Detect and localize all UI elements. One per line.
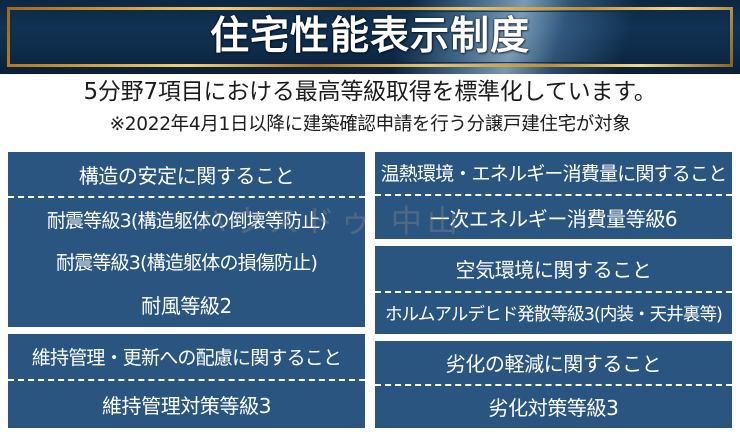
category-block-structure: 構造の安定に関すること 耐震等級3(構造躯体の倒壊等防止) 耐震等級3(構造躯体… bbox=[8, 152, 365, 327]
table-row: 劣化対策等級3 bbox=[375, 384, 732, 429]
category-block-maintenance: 維持管理・更新への配慮に関すること 維持管理対策等級3 bbox=[8, 334, 365, 428]
category-heading: 温熱環境・エネルギー消費量に関すること bbox=[375, 152, 732, 194]
table-row: 耐風等級2 bbox=[8, 283, 365, 327]
category-block-degradation: 劣化の軽減に関すること 劣化対策等級3 bbox=[375, 341, 732, 428]
table-row: 耐震等級3(構造躯体の損傷防止) bbox=[8, 241, 365, 283]
table-row: ホルムアルデヒド発散等級3(内装・天井裏等) bbox=[375, 291, 732, 334]
header-banner: 住宅性能表示制度 bbox=[0, 0, 740, 74]
subtitle-note: ※2022年4月1日以降に建築確認申請を行う分譲戸建住宅が対象 bbox=[0, 110, 740, 140]
table-row: 一次エネルギー消費量等級6 bbox=[375, 194, 732, 240]
subtitle-group: 5分野7項目における最高等級取得を標準化しています。 ※2022年4月1日以降に… bbox=[0, 74, 740, 140]
category-block-air: 空気環境に関すること ホルムアルデヒド発散等級3(内装・天井裏等) bbox=[375, 246, 732, 334]
category-heading: 劣化の軽減に関すること bbox=[375, 341, 732, 384]
category-block-thermal: 温熱環境・エネルギー消費量に関すること 一次エネルギー消費量等級6 bbox=[375, 152, 732, 239]
subtitle-main: 5分野7項目における最高等級取得を標準化しています。 bbox=[0, 74, 740, 110]
table-row: 耐震等級3(構造躯体の倒壊等防止) bbox=[8, 196, 365, 240]
table-row: 維持管理対策等級3 bbox=[8, 379, 365, 428]
table-column-left: 構造の安定に関すること 耐震等級3(構造躯体の倒壊等防止) 耐震等級3(構造躯体… bbox=[8, 152, 365, 428]
category-heading: 空気環境に関すること bbox=[375, 246, 732, 291]
category-heading: 維持管理・更新への配慮に関すること bbox=[8, 334, 365, 379]
table-column-right: 温熱環境・エネルギー消費量に関すること 一次エネルギー消費量等級6 空気環境に関… bbox=[375, 152, 732, 428]
page-title: 住宅性能表示制度 bbox=[0, 8, 740, 66]
performance-table: 構造の安定に関すること 耐震等級3(構造躯体の倒壊等防止) 耐震等級3(構造躯体… bbox=[8, 152, 732, 428]
category-heading: 構造の安定に関すること bbox=[8, 152, 365, 196]
